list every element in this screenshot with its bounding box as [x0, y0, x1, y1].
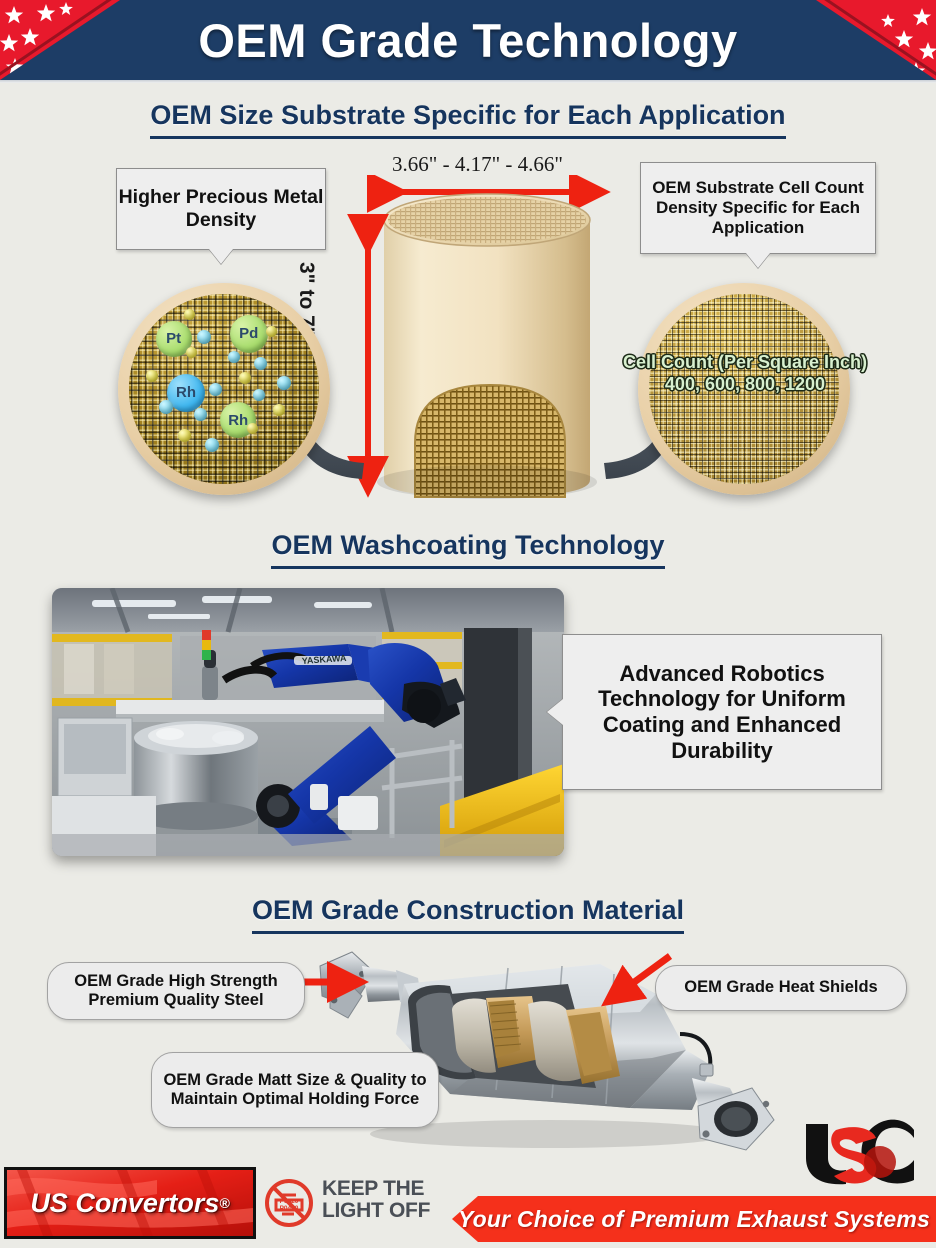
callout-premium-steel-text: OEM Grade High Strength Premium Quality …	[48, 972, 304, 1011]
cell-count-values: 400, 600, 800, 1200	[600, 374, 890, 396]
section-heading-washcoating-text: OEM Washcoating Technology	[271, 530, 664, 569]
svg-text:P0430: P0430	[280, 1205, 299, 1212]
callout-matt-size-text: OEM Grade Matt Size & Quality to Maintai…	[152, 1071, 438, 1110]
callout-heat-shields-text: OEM Grade Heat Shields	[684, 978, 877, 997]
tagline-banner: Your Choice of Premium Exhaust Systems	[452, 1196, 936, 1242]
particle-dot	[239, 372, 251, 384]
substrate-diameter-label: 3.66" - 4.17" - 4.66"	[375, 152, 580, 177]
page-title: OEM Grade Technology	[0, 0, 936, 80]
page-header: OEM Grade Technology	[0, 0, 936, 80]
callout-cell-count-text: OEM Substrate Cell Count Density Specifi…	[641, 178, 875, 237]
particle-dot	[253, 389, 265, 401]
precious-metal-disc: Pt Pd Rh Rh	[118, 283, 330, 495]
particle-dot	[146, 370, 158, 382]
svg-text:P0420: P0420	[280, 1198, 299, 1205]
infographic-page: OEM Grade Technology OEM Size Substrate …	[0, 0, 936, 1248]
particle-pd: Pd	[230, 315, 268, 353]
us-convertors-logo-text: US Convertors®	[7, 1170, 253, 1236]
usc-logo[interactable]	[796, 1116, 924, 1186]
disc-honeycomb-face: Pt Pd Rh Rh	[129, 294, 319, 484]
brand-name: US Convertors	[30, 1188, 219, 1219]
header-divider	[0, 80, 936, 83]
callout-tail	[209, 249, 233, 264]
badge-line-1: KEEP THE	[322, 1178, 430, 1200]
keep-the-light-off-badge: P0420 P0430 KEEP THE LIGHT OFF	[262, 1178, 437, 1228]
callout-premium-steel: OEM Grade High Strength Premium Quality …	[47, 962, 305, 1020]
callout-advanced-robotics-text: Advanced Robotics Technology for Uniform…	[563, 661, 881, 763]
cell-count-overlay: Cell Count (Per Square Inch) 400, 600, 8…	[600, 352, 890, 395]
callout-precious-metal: Higher Precious Metal Density	[116, 168, 326, 250]
callout-tail	[547, 699, 563, 725]
no-check-engine-light-icon: P0420 P0430	[262, 1178, 318, 1228]
tagline-text: Your Choice of Premium Exhaust Systems	[458, 1206, 930, 1233]
particle-dot	[277, 376, 291, 390]
particle-dot	[194, 408, 207, 421]
section-heading-construction-text: OEM Grade Construction Material	[252, 895, 684, 934]
section-heading-construction: OEM Grade Construction Material	[0, 895, 936, 934]
section-heading-substrate-text: OEM Size Substrate Specific for Each App…	[150, 100, 785, 139]
callout-advanced-robotics: Advanced Robotics Technology for Uniform…	[562, 634, 882, 790]
us-convertors-logo[interactable]: US Convertors®	[4, 1167, 256, 1239]
callout-precious-metal-text: Higher Precious Metal Density	[117, 186, 325, 231]
callout-tail	[746, 253, 770, 268]
particle-dot	[228, 351, 240, 363]
particle-dot	[247, 423, 258, 434]
badge-line-2: LIGHT OFF	[322, 1200, 430, 1222]
callout-cell-count: OEM Substrate Cell Count Density Specifi…	[640, 162, 876, 254]
section-heading-washcoating: OEM Washcoating Technology	[0, 530, 936, 569]
callout-matt-size: OEM Grade Matt Size & Quality to Maintai…	[151, 1052, 439, 1128]
registered-mark: ®	[219, 1195, 229, 1211]
cell-count-title: Cell Count (Per Square Inch)	[600, 352, 890, 374]
section-heading-substrate: OEM Size Substrate Specific for Each App…	[0, 100, 936, 139]
callout-heat-shields: OEM Grade Heat Shields	[655, 965, 907, 1011]
keep-the-light-off-text: KEEP THE LIGHT OFF	[322, 1178, 430, 1223]
washcoating-photo: YASKAWA	[52, 588, 564, 856]
